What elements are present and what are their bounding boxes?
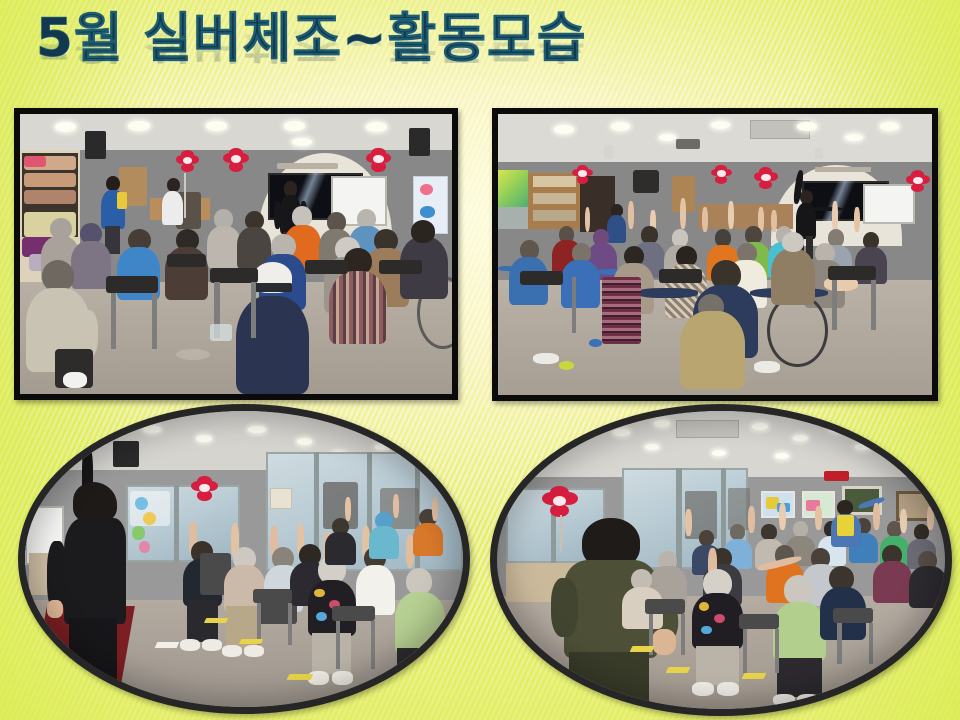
photo-3-scene: [25, 411, 463, 707]
slide-title-reflection: 5월 실버체조~활동모습: [36, 23, 587, 64]
slide-canvas: 5월 실버체조~활동모습 5월 실버체조~활동모습: [0, 0, 960, 720]
photo-frame-1[interactable]: [14, 108, 458, 400]
photo-frame-2[interactable]: [492, 108, 938, 401]
slide-title-block: 5월 실버체조~활동모습 5월 실버체조~활동모습: [36, 12, 736, 108]
photo-frame-3[interactable]: [18, 404, 470, 714]
photo-frame-4[interactable]: [490, 404, 952, 716]
photo-1-scene: [20, 114, 452, 394]
photo-4-scene: [497, 411, 945, 709]
photo-2-scene: [498, 114, 932, 395]
